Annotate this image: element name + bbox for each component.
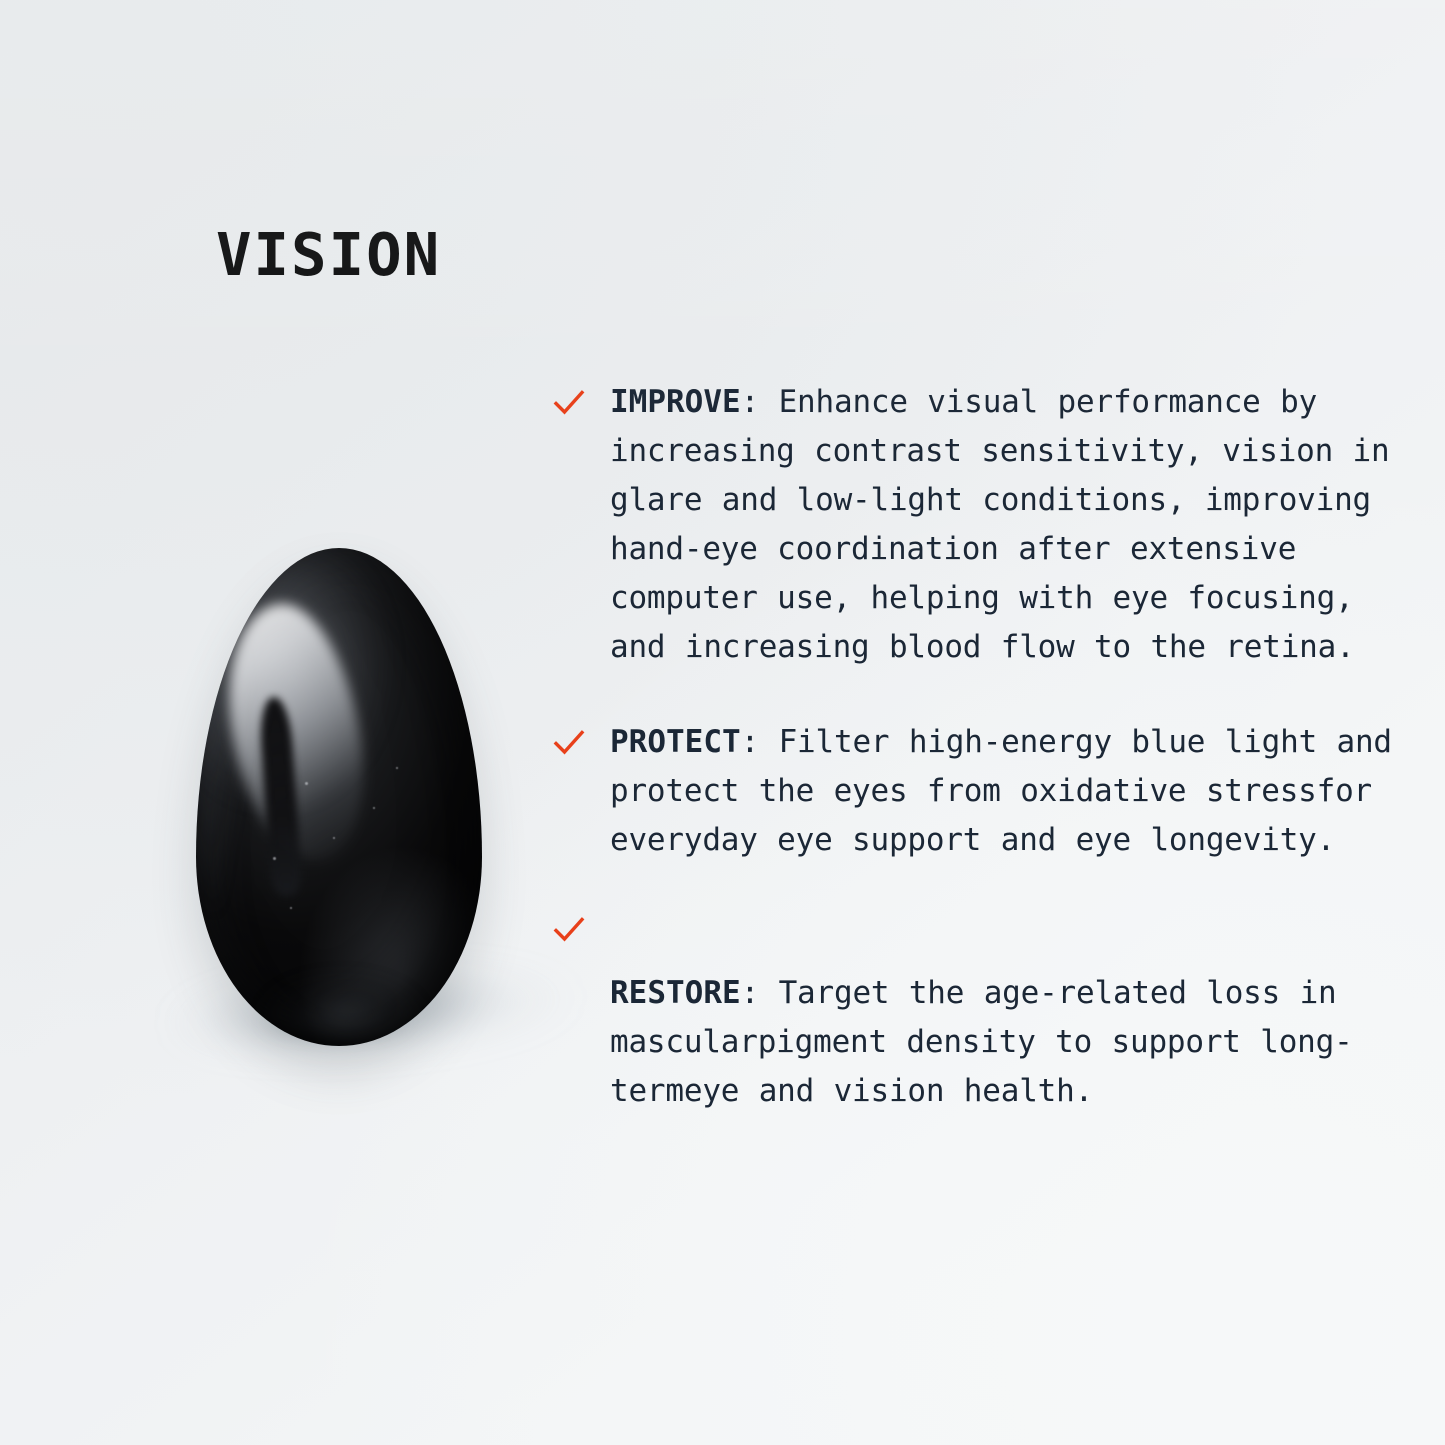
dust-speck bbox=[396, 767, 398, 769]
check-icon bbox=[552, 913, 586, 947]
benefit-lead-restore: RESTORE bbox=[610, 975, 741, 1011]
page-title: VISION bbox=[216, 225, 441, 284]
dust-speck bbox=[305, 782, 308, 785]
benefit-lead-protect: PROTECT bbox=[610, 724, 741, 760]
benefit-separator: : bbox=[741, 724, 779, 760]
benefit-item-restore: RESTORE: Target the age-related loss in … bbox=[552, 913, 1420, 1116]
benefit-lead-improve: IMPROVE bbox=[610, 384, 741, 420]
dust-speck bbox=[273, 857, 276, 860]
black-egg-capsule bbox=[196, 548, 482, 1046]
benefit-text-protect: PROTECT: Filter high-energy blue light a… bbox=[610, 718, 1420, 865]
benefit-text-restore: RESTORE: Target the age-related loss in … bbox=[610, 913, 1420, 1116]
benefit-item-protect: PROTECT: Filter high-energy blue light a… bbox=[552, 718, 1420, 865]
page-background: VISION IMPROVE: Enhance visual performan… bbox=[0, 0, 1445, 1445]
benefit-separator: : bbox=[741, 975, 779, 1011]
benefit-item-improve: IMPROVE: Enhance visual performance by i… bbox=[552, 378, 1420, 672]
check-icon bbox=[552, 726, 586, 760]
benefit-body-improve: Enhance visual performance by increasing… bbox=[610, 384, 1389, 665]
dust-speck bbox=[290, 907, 292, 909]
check-icon bbox=[552, 386, 586, 420]
product-image bbox=[168, 520, 548, 1080]
benefit-text-improve: IMPROVE: Enhance visual performance by i… bbox=[610, 378, 1420, 672]
benefits-list: IMPROVE: Enhance visual performance by i… bbox=[552, 378, 1420, 1116]
egg-bounce-light bbox=[253, 961, 430, 1041]
benefit-separator: : bbox=[741, 384, 779, 420]
